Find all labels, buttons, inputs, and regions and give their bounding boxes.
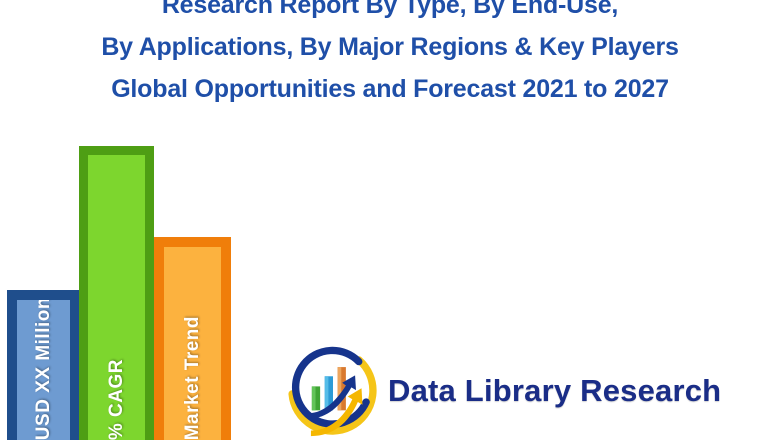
bar-label-market-trend: Market Trend: [182, 314, 204, 440]
data-library-research-logo-icon: [287, 345, 379, 437]
bar-usd-xx-million: USD XX Million: [7, 290, 80, 440]
brand-logo-text: Data Library Research: [388, 373, 721, 409]
bar-market-trend: Market Trend: [154, 237, 231, 440]
bar-percent-cagr: % CAGR: [79, 146, 154, 440]
brand-logo: Data Library Research: [287, 345, 721, 437]
bar-label-percent-cagr: % CAGR: [106, 357, 128, 440]
market-bar-chart: USD XX Million % CAGR Market Trend: [0, 0, 260, 440]
bar-label-usd-xx-million: USD XX Million: [33, 295, 55, 440]
